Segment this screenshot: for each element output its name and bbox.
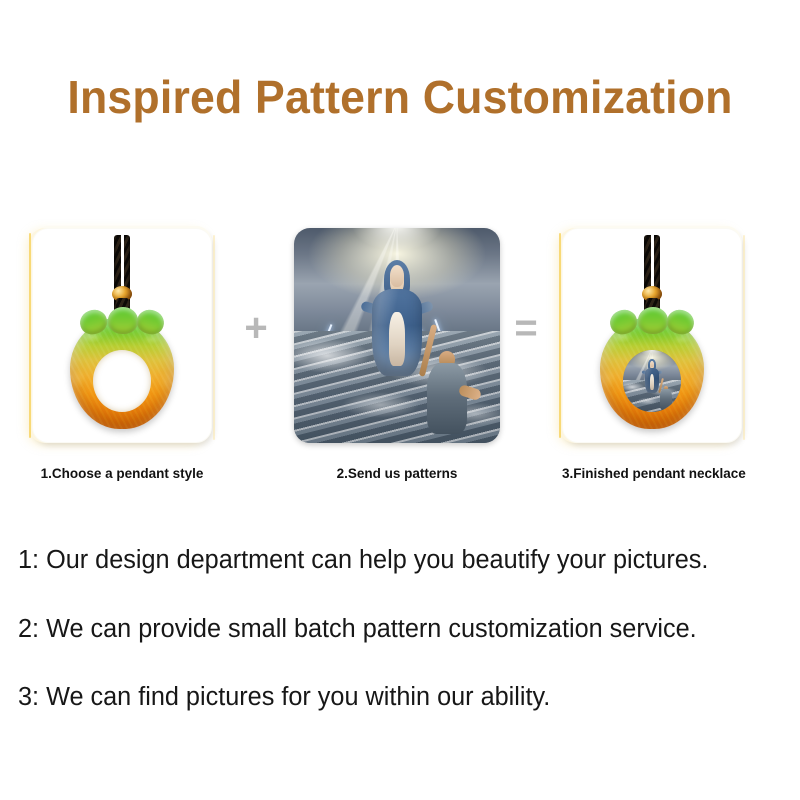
robed-figure bbox=[372, 265, 421, 377]
drowning-man-figure bbox=[424, 336, 473, 435]
drowning-man-body bbox=[660, 389, 671, 410]
ring-pendant bbox=[70, 317, 174, 429]
drowning-man-figure bbox=[660, 381, 674, 410]
robed-figure-head bbox=[390, 265, 405, 287]
step-finished-pendant-necklace[interactable]: 3.Finished pendant necklace bbox=[562, 228, 742, 443]
step-choose-pendant-style[interactable]: 1.Choose a pendant style bbox=[32, 228, 212, 443]
printed-pendant bbox=[600, 317, 704, 429]
robed-figure-inner-garment bbox=[389, 312, 406, 366]
plus-icon: + bbox=[236, 308, 276, 348]
equals-icon: = bbox=[506, 308, 546, 348]
robed-figure-robe bbox=[372, 289, 421, 376]
blank-pendant-illustration bbox=[33, 229, 211, 442]
steps-strip: 1.Choose a pendant style + bbox=[0, 228, 800, 490]
service-note: 2: We can provide small batch pattern cu… bbox=[18, 617, 780, 643]
stormy-sea-rescue-painting bbox=[294, 228, 500, 443]
robed-figure-head bbox=[650, 361, 654, 367]
finished-pendant-card[interactable] bbox=[562, 228, 742, 443]
step-send-us-patterns[interactable]: 2.Send us patterns bbox=[294, 228, 500, 443]
finished-pendant-illustration bbox=[563, 229, 741, 442]
cord-split-gap bbox=[651, 235, 654, 287]
pendant-printed-pattern bbox=[623, 350, 681, 412]
step-caption: 2.Send us patterns bbox=[294, 466, 500, 481]
crown-lobe-left bbox=[607, 307, 640, 338]
drowning-man-body bbox=[427, 363, 468, 434]
crown-lobe-center bbox=[638, 307, 668, 334]
pattern-photo-card[interactable] bbox=[294, 228, 500, 443]
robed-figure-robe bbox=[645, 368, 659, 393]
service-note: 3: We can find pictures for you within o… bbox=[18, 685, 780, 711]
pendant-carved-crown bbox=[610, 310, 694, 340]
service-notes-list: 1: Our design department can help you be… bbox=[18, 548, 788, 754]
robed-figure-inner-garment bbox=[650, 374, 655, 390]
step-caption: 3.Finished pendant necklace bbox=[562, 466, 742, 481]
page-title: Inspired Pattern Customization bbox=[12, 72, 788, 123]
step-caption: 1.Choose a pendant style bbox=[32, 466, 212, 481]
crown-lobe-left bbox=[77, 307, 110, 338]
pendant-carved-crown bbox=[80, 310, 164, 340]
robed-figure bbox=[645, 361, 659, 393]
crown-lobe-right bbox=[134, 307, 167, 338]
pendant-style-card[interactable] bbox=[32, 228, 212, 443]
stormy-sea-rescue-painting-inset bbox=[623, 350, 681, 412]
cord-split-gap bbox=[121, 235, 124, 287]
service-note: 1: Our design department can help you be… bbox=[18, 548, 780, 574]
crown-lobe-center bbox=[108, 307, 138, 334]
crown-lobe-right bbox=[664, 307, 697, 338]
pendant-empty-center bbox=[93, 350, 151, 412]
